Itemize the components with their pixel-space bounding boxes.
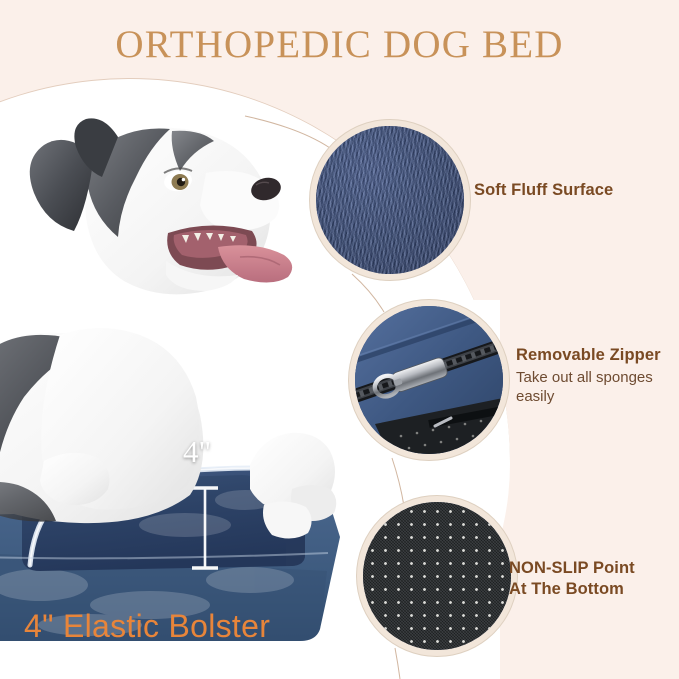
navy-zipper-closeup-icon [355, 306, 503, 454]
feature-swatch-soft-fluff [316, 126, 464, 274]
feature-label-removable-zipper: Removable Zipper Take out all sponges ea… [516, 345, 679, 406]
feature-title-soft-fluff: Soft Fluff Surface [474, 180, 613, 201]
dimension-label-4in: 4" [183, 434, 211, 470]
feature-title-non-slip-line2: At The Bottom [509, 579, 635, 600]
infographic-canvas: ORTHOPEDIC DOG BED [0, 0, 679, 679]
dog-illustration [0, 118, 336, 538]
page-title: ORTHOPEDIC DOG BED [0, 22, 679, 67]
black-dotted-nonslip-fabric-icon [363, 502, 511, 650]
feature-label-soft-fluff: Soft Fluff Surface [474, 180, 613, 201]
feature-title-non-slip-line1: NON-SLIP Point [509, 558, 635, 579]
feature-swatch-non-slip [363, 502, 511, 650]
feature-swatch-removable-zipper [355, 306, 503, 454]
feature-title-removable-zipper: Removable Zipper [516, 345, 679, 366]
feature-label-non-slip: NON-SLIP Point At The Bottom [509, 558, 635, 599]
bottom-caption-elastic-bolster: 4" Elastic Bolster [24, 608, 270, 645]
blue-fluff-texture-icon [316, 126, 464, 274]
feature-subtitle-removable-zipper: Take out all sponges easily [516, 368, 679, 406]
